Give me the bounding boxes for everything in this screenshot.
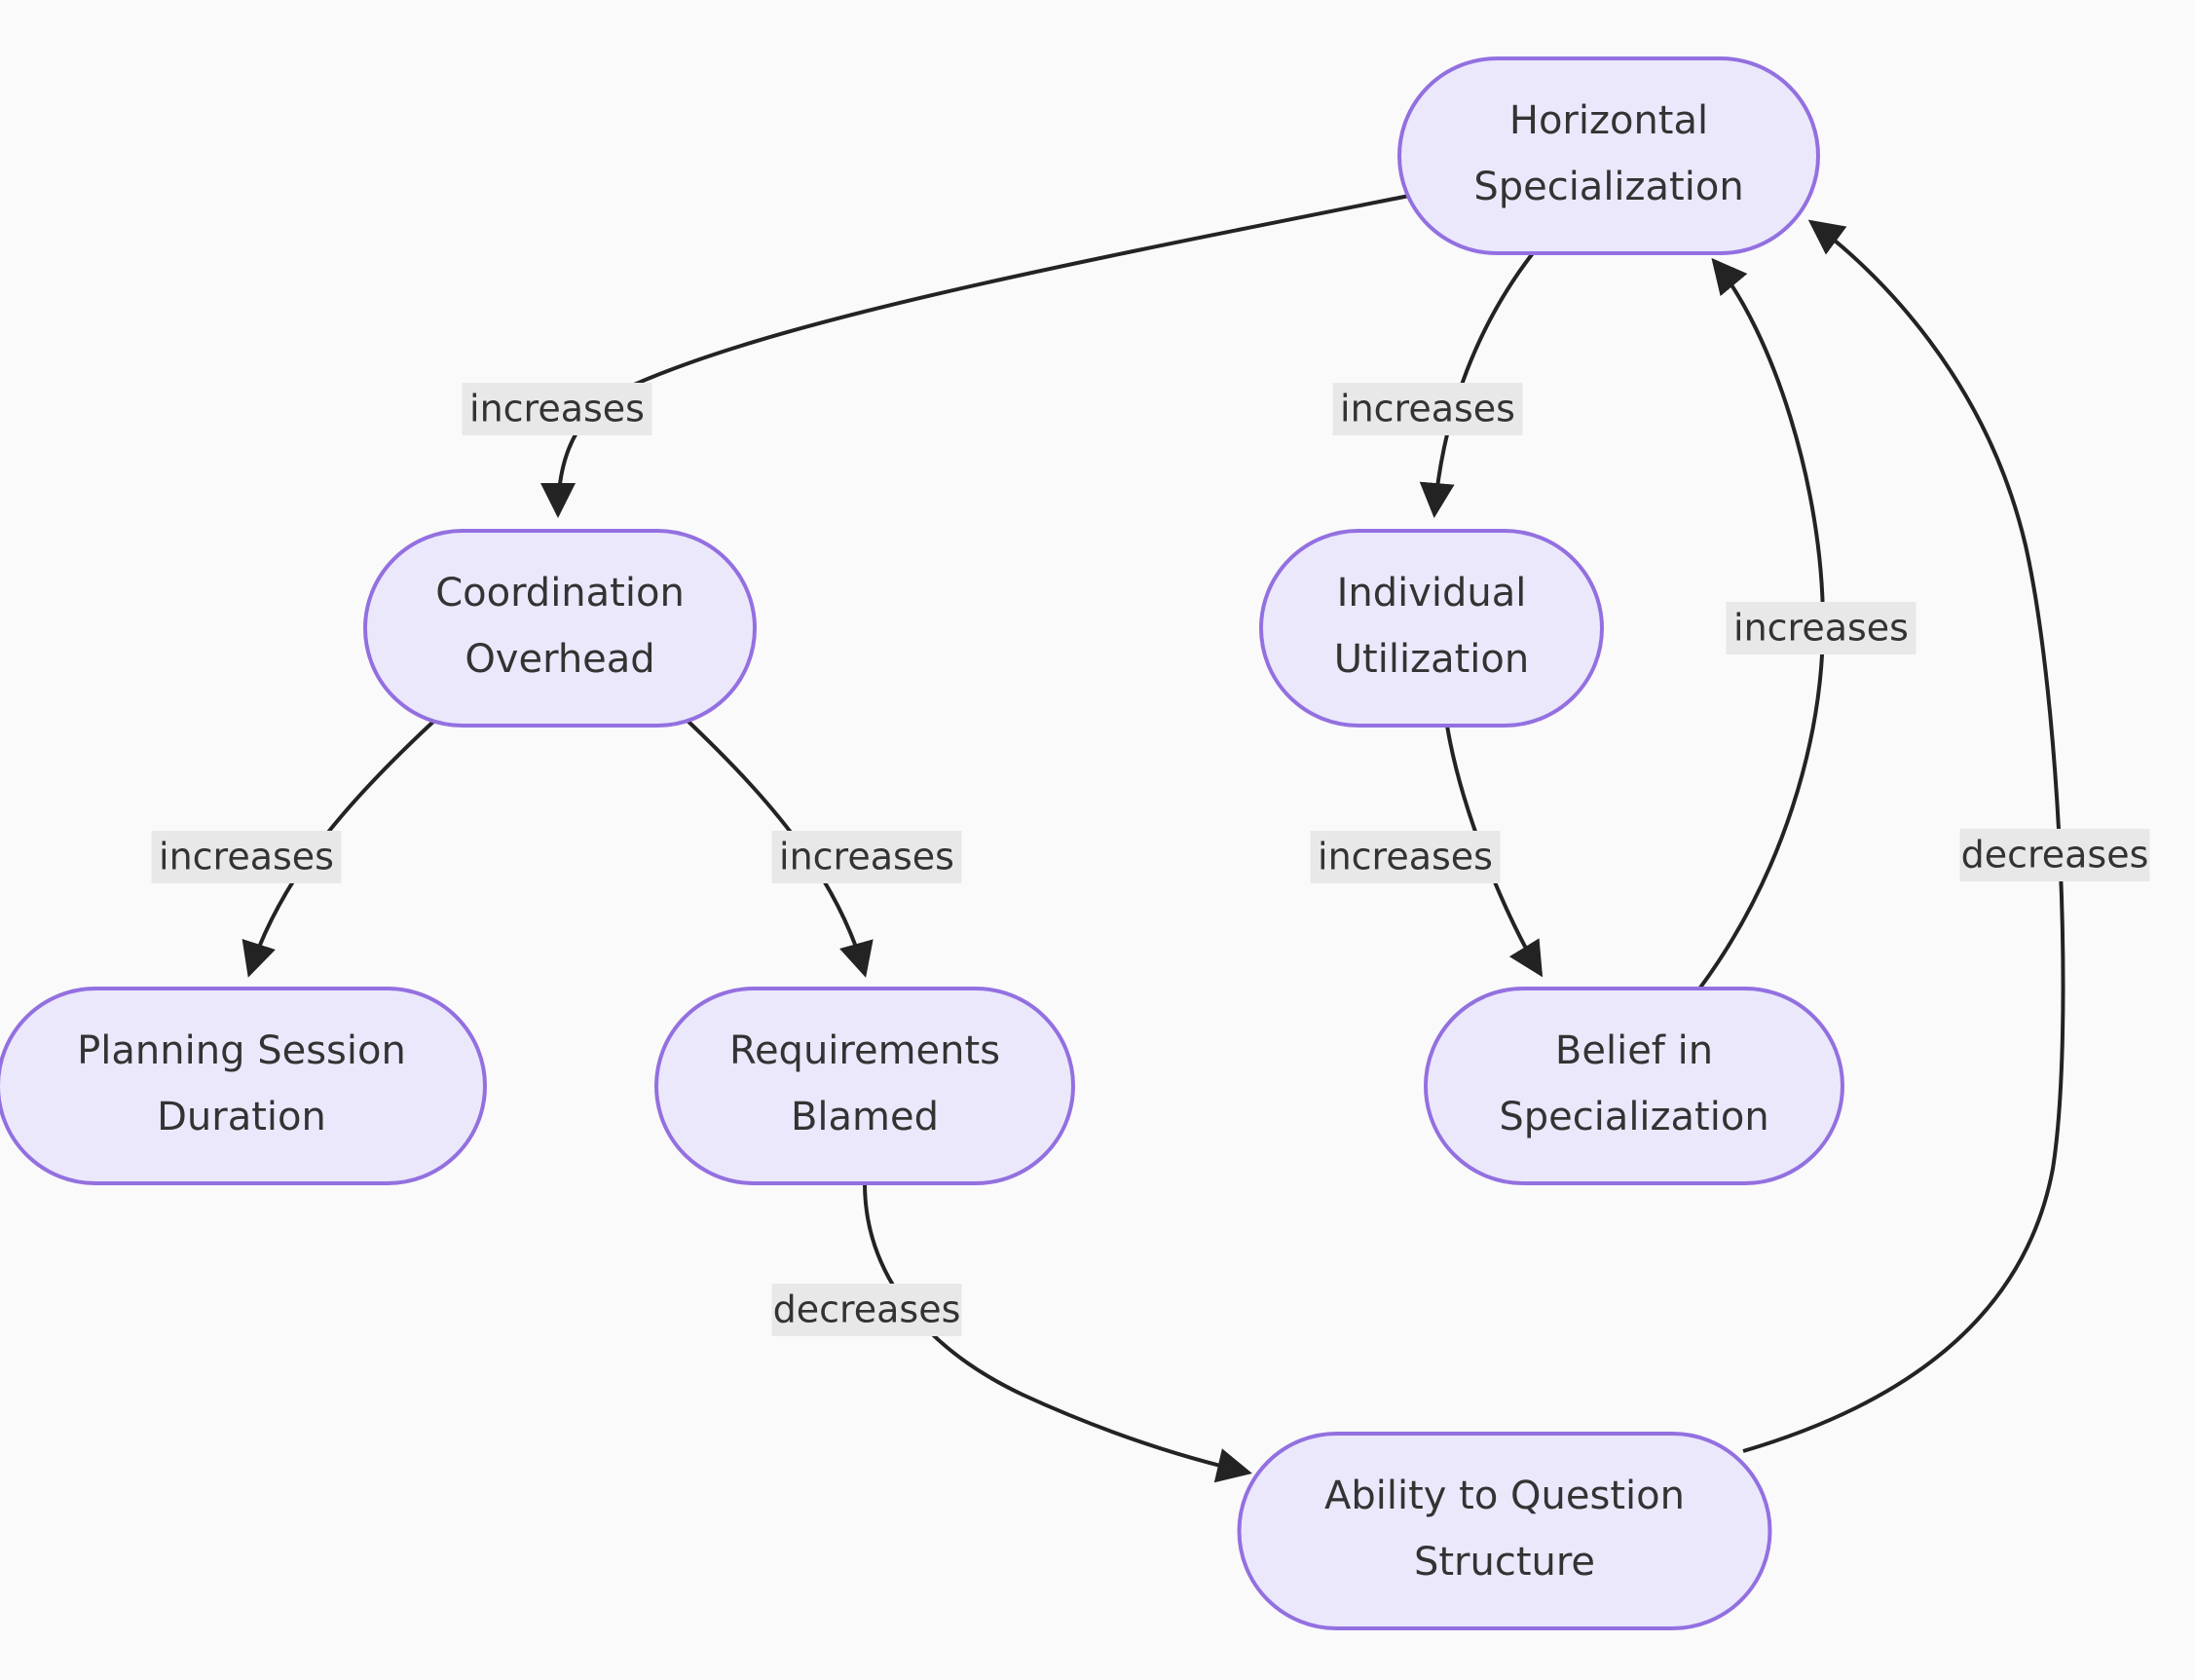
node-label-line: Coordination — [435, 571, 685, 616]
node-label-line: Overhead — [465, 637, 654, 682]
node-label-line: Planning Session — [77, 1028, 406, 1073]
node-label-line: Specialization — [1499, 1095, 1768, 1139]
edge-label-text: decreases — [1961, 834, 2149, 877]
edge-label-decreases: decreases — [1960, 829, 2150, 881]
node-shape — [0, 989, 485, 1183]
node-planning-session-duration[interactable]: Planning SessionDuration — [0, 989, 485, 1183]
node-label-line: Blamed — [791, 1095, 939, 1139]
edge-label-text: increases — [469, 388, 645, 430]
edge-label-text: increases — [159, 836, 334, 878]
edge-label-text: increases — [1340, 388, 1515, 430]
node-label-line: Ability to Question — [1324, 1474, 1685, 1518]
node-label-line: Horizontal — [1509, 98, 1708, 143]
node-label-line: Requirements — [729, 1028, 1000, 1073]
edge-labels-layer: increasesincreasesincreasesincreasesincr… — [152, 383, 2150, 1336]
edge-label-increases: increases — [1333, 383, 1523, 435]
node-horizontal-specialization[interactable]: HorizontalSpecialization — [1399, 58, 1818, 253]
edge-label-text: increases — [1318, 836, 1493, 878]
node-label-line: Duration — [157, 1095, 326, 1139]
edge-horizontal-specialization-to-coordination-overhead — [558, 195, 1414, 514]
node-shape — [365, 531, 755, 726]
node-belief-in-specialization[interactable]: Belief inSpecialization — [1426, 989, 1842, 1183]
edge-label-decreases: decreases — [772, 1284, 962, 1336]
edge-label-increases: increases — [1727, 602, 1916, 654]
node-coordination-overhead[interactable]: CoordinationOverhead — [365, 531, 755, 726]
edge-label-increases: increases — [152, 831, 342, 883]
node-label-line: Structure — [1414, 1540, 1595, 1585]
node-shape — [1426, 989, 1842, 1183]
edge-label-increases: increases — [463, 383, 652, 435]
diagram-canvas: increasesincreasesincreasesincreasesincr… — [0, 0, 2195, 1680]
node-shape — [1261, 531, 1602, 726]
node-individual-utilization[interactable]: IndividualUtilization — [1261, 531, 1602, 726]
node-shape — [656, 989, 1073, 1183]
node-label-line: Individual — [1337, 571, 1527, 616]
node-requirements-blamed[interactable]: RequirementsBlamed — [656, 989, 1073, 1183]
edge-label-text: increases — [1733, 607, 1909, 650]
node-label-line: Specialization — [1473, 165, 1743, 209]
node-shape — [1399, 58, 1818, 253]
node-shape — [1240, 1434, 1770, 1628]
node-label-line: Utilization — [1334, 637, 1529, 682]
node-ability-to-question-structure[interactable]: Ability to QuestionStructure — [1240, 1434, 1770, 1628]
node-label-line: Belief in — [1555, 1028, 1713, 1073]
edge-label-increases: increases — [1311, 831, 1501, 883]
edge-label-increases: increases — [772, 831, 962, 883]
flowchart-svg: increasesincreasesincreasesincreasesincr… — [0, 0, 2195, 1680]
edge-label-text: increases — [779, 836, 954, 878]
edge-label-text: decreases — [773, 1288, 961, 1331]
